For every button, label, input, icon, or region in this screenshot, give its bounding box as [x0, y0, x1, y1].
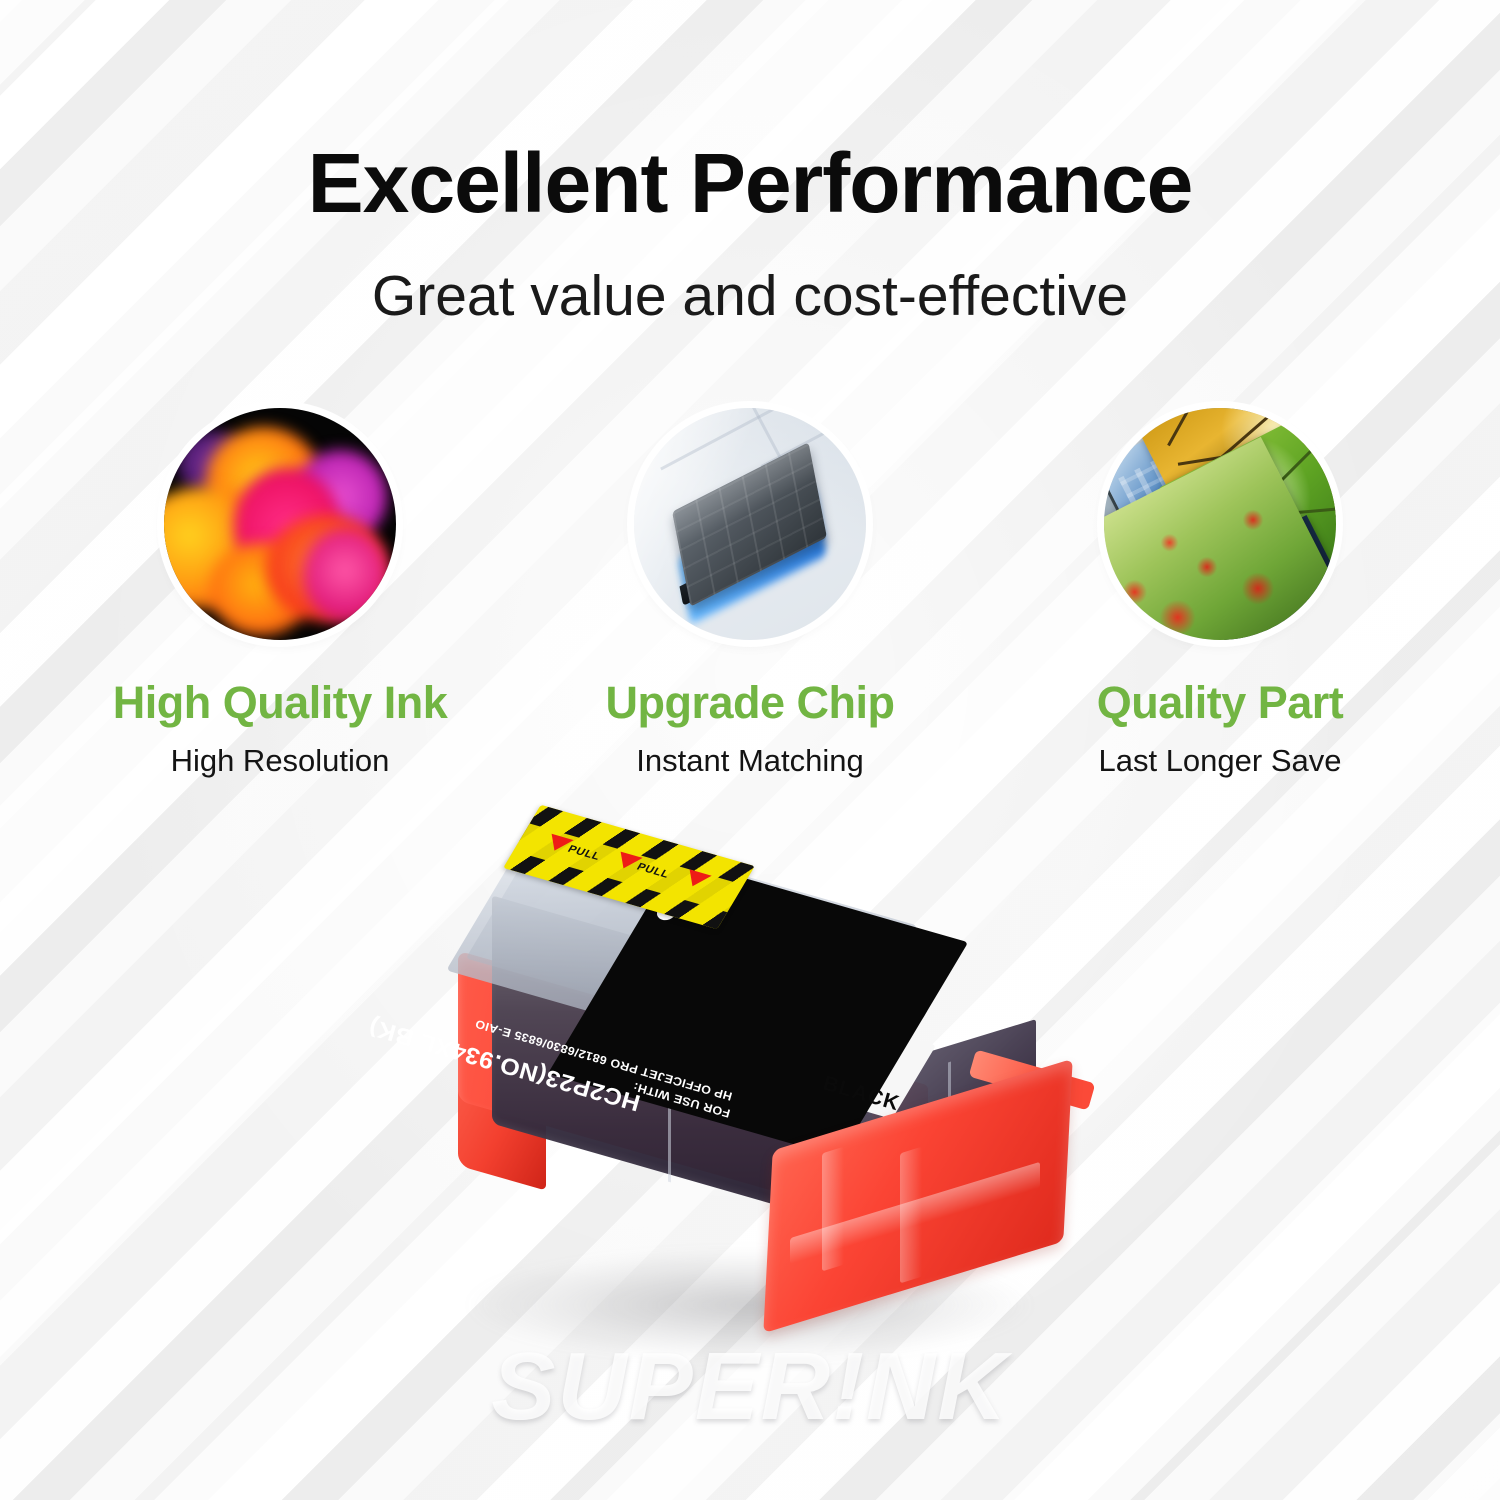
feature-subtitle: High Resolution	[171, 744, 390, 778]
feature-row: High Quality Ink High Resolution Upgrade…	[0, 408, 1500, 778]
feature-title: Upgrade Chip	[605, 678, 894, 728]
page-subtitle: Great value and cost-effective	[0, 265, 1500, 328]
feature-upgrade-chip: Upgrade Chip Instant Matching	[515, 408, 985, 778]
clip-rib	[822, 1147, 844, 1272]
marketing-banner: Excellent Performance Great value and co…	[0, 0, 1500, 1500]
feature-quality-part: Quality Part Last Longer Save	[985, 408, 1455, 778]
chip-icon	[634, 408, 866, 640]
ink-splash-icon	[164, 408, 396, 640]
page-title: Excellent Performance	[0, 139, 1500, 227]
feature-subtitle: Last Longer Save	[1098, 744, 1341, 778]
product-image-ink-cartridge: HC2P23(NO.934XL BK) FOR USE WITH: HP OFF…	[430, 820, 1070, 1380]
feature-high-quality-ink: High Quality Ink High Resolution	[45, 408, 515, 778]
feature-title: Quality Part	[1097, 678, 1344, 728]
clip-rib	[900, 1147, 922, 1284]
brand-watermark: SUPER!NK	[0, 1332, 1500, 1442]
feature-title: High Quality Ink	[113, 678, 448, 728]
feature-subtitle: Instant Matching	[636, 744, 863, 778]
photo-collage-icon	[1104, 408, 1336, 640]
